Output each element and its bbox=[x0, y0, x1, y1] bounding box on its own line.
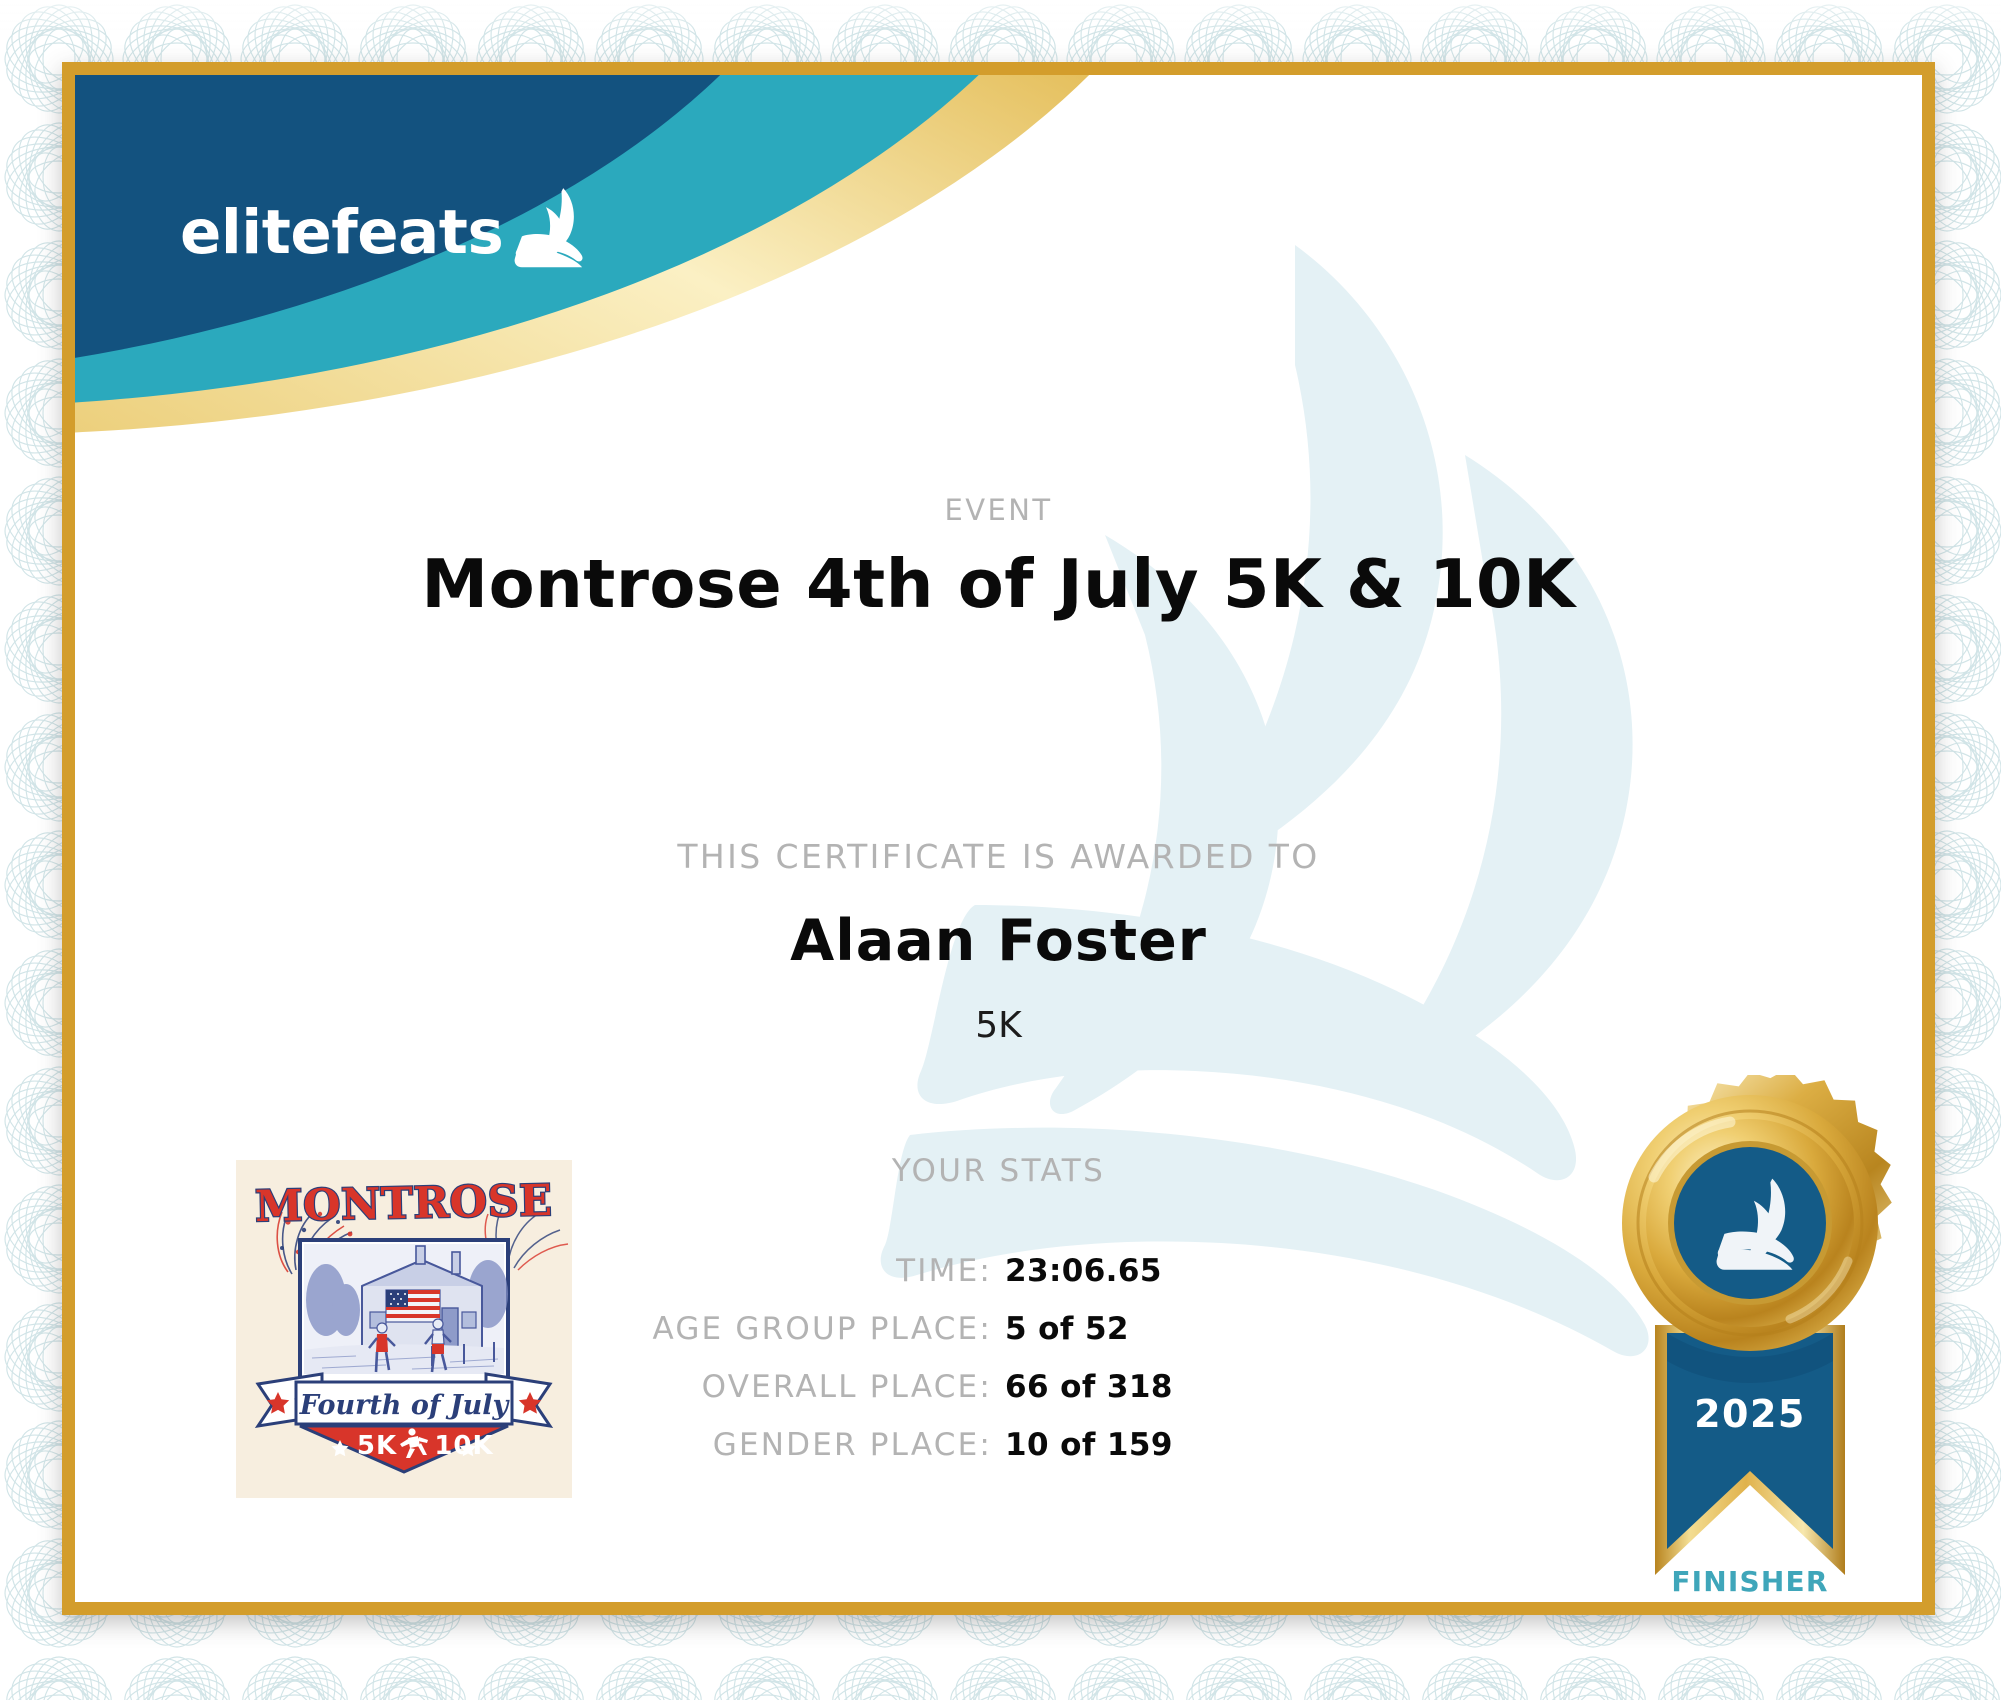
event-label: EVENT bbox=[75, 493, 1922, 527]
stat-key: OVERALL PLACE: bbox=[502, 1369, 992, 1405]
svg-text:5K: 5K bbox=[357, 1431, 397, 1461]
medal-caption-line2: CERTIFICATE bbox=[1585, 1598, 1915, 1602]
certificate-page: elitefeats EVENT Montrose 4th of July 5K… bbox=[0, 0, 2001, 1700]
svg-text:MONTROSE: MONTROSE bbox=[255, 1176, 553, 1232]
medal-caption: FINISHER CERTIFICATE bbox=[1585, 1565, 1915, 1602]
stat-value: 23:06.65 bbox=[1005, 1253, 1495, 1289]
certificate-frame: elitefeats EVENT Montrose 4th of July 5K… bbox=[62, 62, 1935, 1615]
medal-year: 2025 bbox=[1694, 1392, 1806, 1436]
stat-value: 10 of 159 bbox=[1005, 1427, 1495, 1463]
medal-caption-line1: FINISHER bbox=[1585, 1565, 1915, 1598]
awarded-to-label: THIS CERTIFICATE IS AWARDED TO bbox=[75, 837, 1922, 876]
stat-key: AGE GROUP PLACE: bbox=[502, 1311, 992, 1347]
certificate-body: elitefeats EVENT Montrose 4th of July 5K… bbox=[75, 75, 1922, 1602]
recipient-name: Alaan Foster bbox=[75, 908, 1922, 974]
svg-text:10K: 10K bbox=[434, 1431, 493, 1461]
finisher-medal: 2025 bbox=[1585, 1075, 1915, 1602]
race-logo-image: MONTROSE bbox=[236, 1160, 572, 1498]
stat-key: TIME: bbox=[502, 1253, 992, 1289]
recipient-distance: 5K bbox=[75, 1005, 1922, 1046]
event-title: Montrose 4th of July 5K & 10K bbox=[75, 545, 1922, 623]
stat-value: 66 of 318 bbox=[1005, 1369, 1495, 1405]
stat-key: GENDER PLACE: bbox=[502, 1427, 992, 1463]
svg-text:Fourth of July: Fourth of July bbox=[299, 1390, 511, 1421]
stat-value: 5 of 52 bbox=[1005, 1311, 1495, 1347]
